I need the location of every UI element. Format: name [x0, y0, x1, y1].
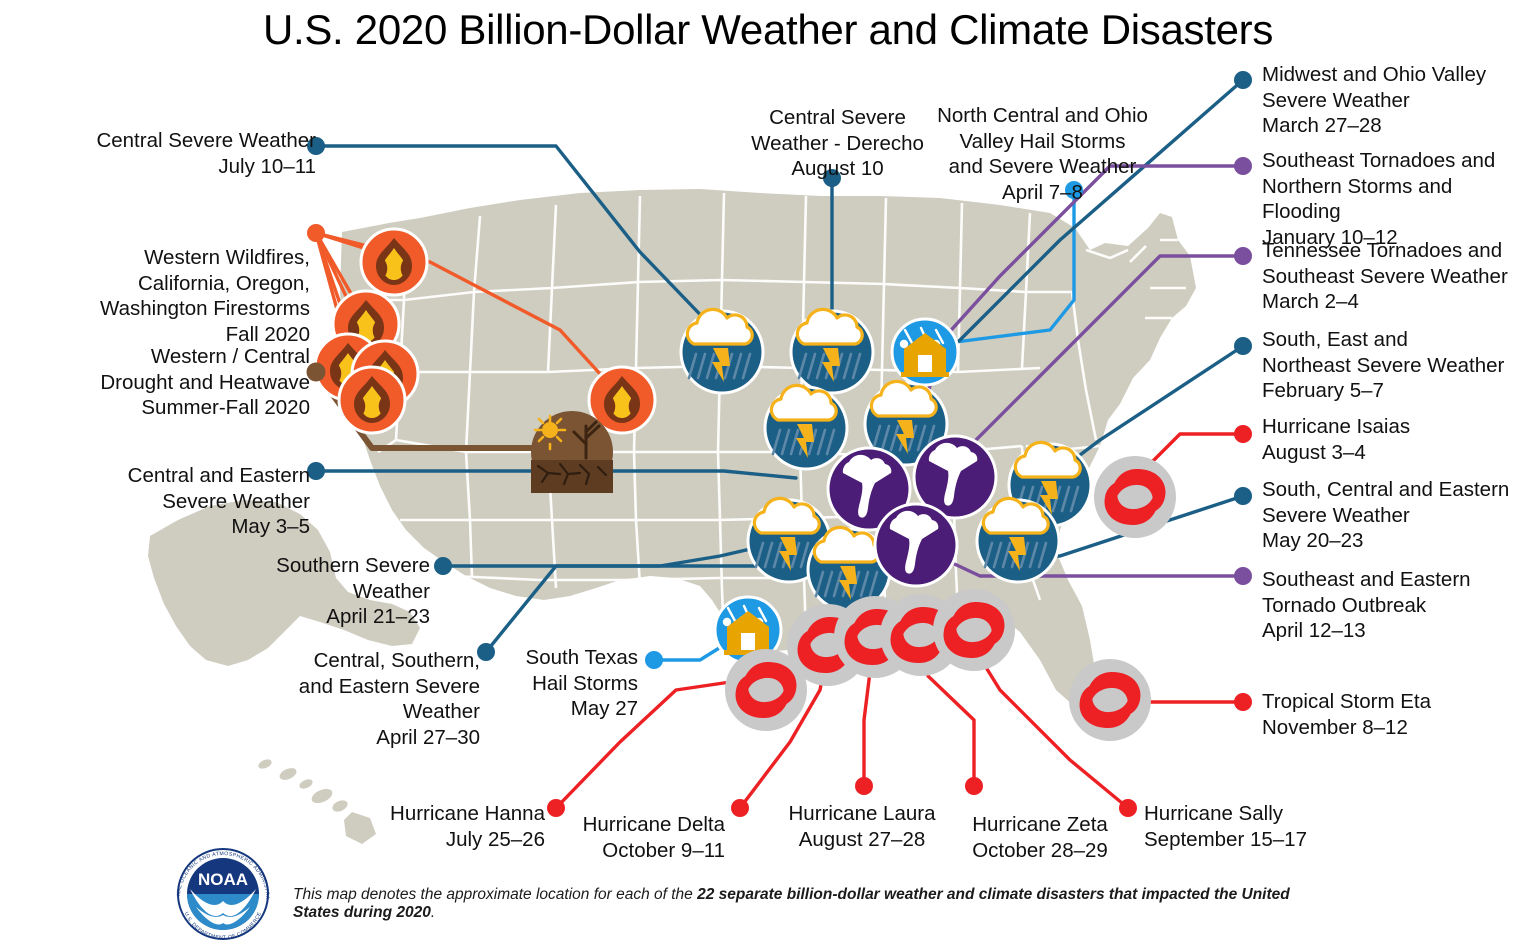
- label-hurricane-zeta[interactable]: Hurricane ZetaOctober 28–29: [940, 812, 1140, 863]
- label-hurricane-sally[interactable]: Hurricane SallySeptember 15–17: [1144, 801, 1364, 852]
- footnote-post: .: [431, 904, 435, 921]
- dot-southeast-eastern-tornado: [1234, 567, 1252, 585]
- thunderstorm-icon: [791, 309, 873, 393]
- label-midwest-ohio-valley[interactable]: Midwest and Ohio Valley Severe WeatherMa…: [1262, 62, 1530, 139]
- dot-eta: [1234, 693, 1252, 711]
- label-hurricane-isaias[interactable]: Hurricane IsaiasAugust 3–4: [1262, 414, 1512, 465]
- label-hurricane-hanna[interactable]: Hurricane HannaJuly 25–26: [330, 801, 545, 852]
- label-western-central-drought[interactable]: Western / Central Drought and HeatwaveSu…: [60, 344, 310, 421]
- dot-south-east-northeast: [1234, 337, 1252, 355]
- footnote: This map denotes the approximate locatio…: [293, 886, 1323, 922]
- dot-southern-severe: [434, 557, 452, 575]
- hurricane-icon: [933, 589, 1015, 671]
- dot-south-central-eastern-may: [1234, 487, 1252, 505]
- label-southern-severe-weather[interactable]: Southern Severe WeatherApril 21–23: [190, 553, 430, 630]
- label-hurricane-laura[interactable]: Hurricane LauraAugust 27–28: [762, 801, 962, 852]
- label-southeast-tornadoes-jan[interactable]: Southeast Tornadoes and Northern Storms …: [1262, 148, 1534, 250]
- label-south-central-eastern-may[interactable]: South, Central and Eastern Severe Weathe…: [1262, 477, 1536, 554]
- footnote-pre: This map denotes the approximate locatio…: [293, 886, 697, 903]
- label-north-central-ohio-hail[interactable]: North Central and Ohio Valley Hail Storm…: [920, 103, 1165, 205]
- drought-icon: [531, 411, 613, 493]
- dot-delta: [731, 799, 749, 817]
- hurricane-icon: [1094, 456, 1176, 538]
- thunderstorm-icon: [977, 498, 1059, 582]
- label-central-severe-derecho[interactable]: Central Severe Weather - DerechoAugust 1…: [730, 105, 945, 182]
- tornado-icon: [875, 504, 957, 586]
- label-central-eastern-severe-may[interactable]: Central and Eastern Severe WeatherMay 3–…: [70, 463, 310, 540]
- map-poster: U.S. 2020 Billion-Dollar Weather and Cli…: [0, 0, 1536, 947]
- wildfire-icon: [339, 367, 405, 433]
- dot-tennessee-tornadoes: [1234, 247, 1252, 265]
- thunderstorm-icon: [765, 385, 847, 469]
- hail-house-icon: [892, 319, 958, 385]
- label-tropical-storm-eta[interactable]: Tropical Storm EtaNovember 8–12: [1262, 689, 1512, 740]
- wildfire-icon: [361, 229, 427, 295]
- thunderstorm-icon: [681, 309, 763, 393]
- label-western-wildfires[interactable]: Western Wildfires, California, Oregon, W…: [60, 245, 310, 347]
- label-central-southern-eastern[interactable]: Central, Southern, and Eastern Severe We…: [230, 648, 480, 750]
- dot-south-texas-hail: [645, 651, 663, 669]
- dot-laura: [855, 777, 873, 795]
- label-south-texas-hail[interactable]: South Texas Hail StormsMay 27: [488, 645, 638, 722]
- label-tennessee-tornadoes[interactable]: Tennessee Tornadoes and Southeast Severe…: [1262, 238, 1534, 315]
- noaa-wordmark: NOAA: [198, 870, 248, 889]
- dot-midwest-ohio: [1234, 71, 1252, 89]
- hurricane-icon: [1069, 659, 1151, 741]
- label-central-severe-weather-july[interactable]: Central Severe WeatherJuly 10–11: [96, 128, 316, 179]
- label-hurricane-delta[interactable]: Hurricane DeltaOctober 9–11: [520, 812, 725, 863]
- dot-southeast-tornadoes-jan: [1234, 157, 1252, 175]
- label-southeast-eastern-tornado[interactable]: Southeast and Eastern Tornado OutbreakAp…: [1262, 567, 1530, 644]
- noaa-logo: NOAA NATIONAL OCEANIC AND ATMOSPHERIC AD…: [168, 843, 278, 945]
- dot-isaias: [1234, 425, 1252, 443]
- connector-isaias: [1152, 434, 1243, 462]
- dot-western-wildfires: [307, 224, 325, 242]
- dot-zeta: [965, 777, 983, 795]
- label-south-east-northeast-severe[interactable]: South, East and Northeast Severe Weather…: [1262, 327, 1530, 404]
